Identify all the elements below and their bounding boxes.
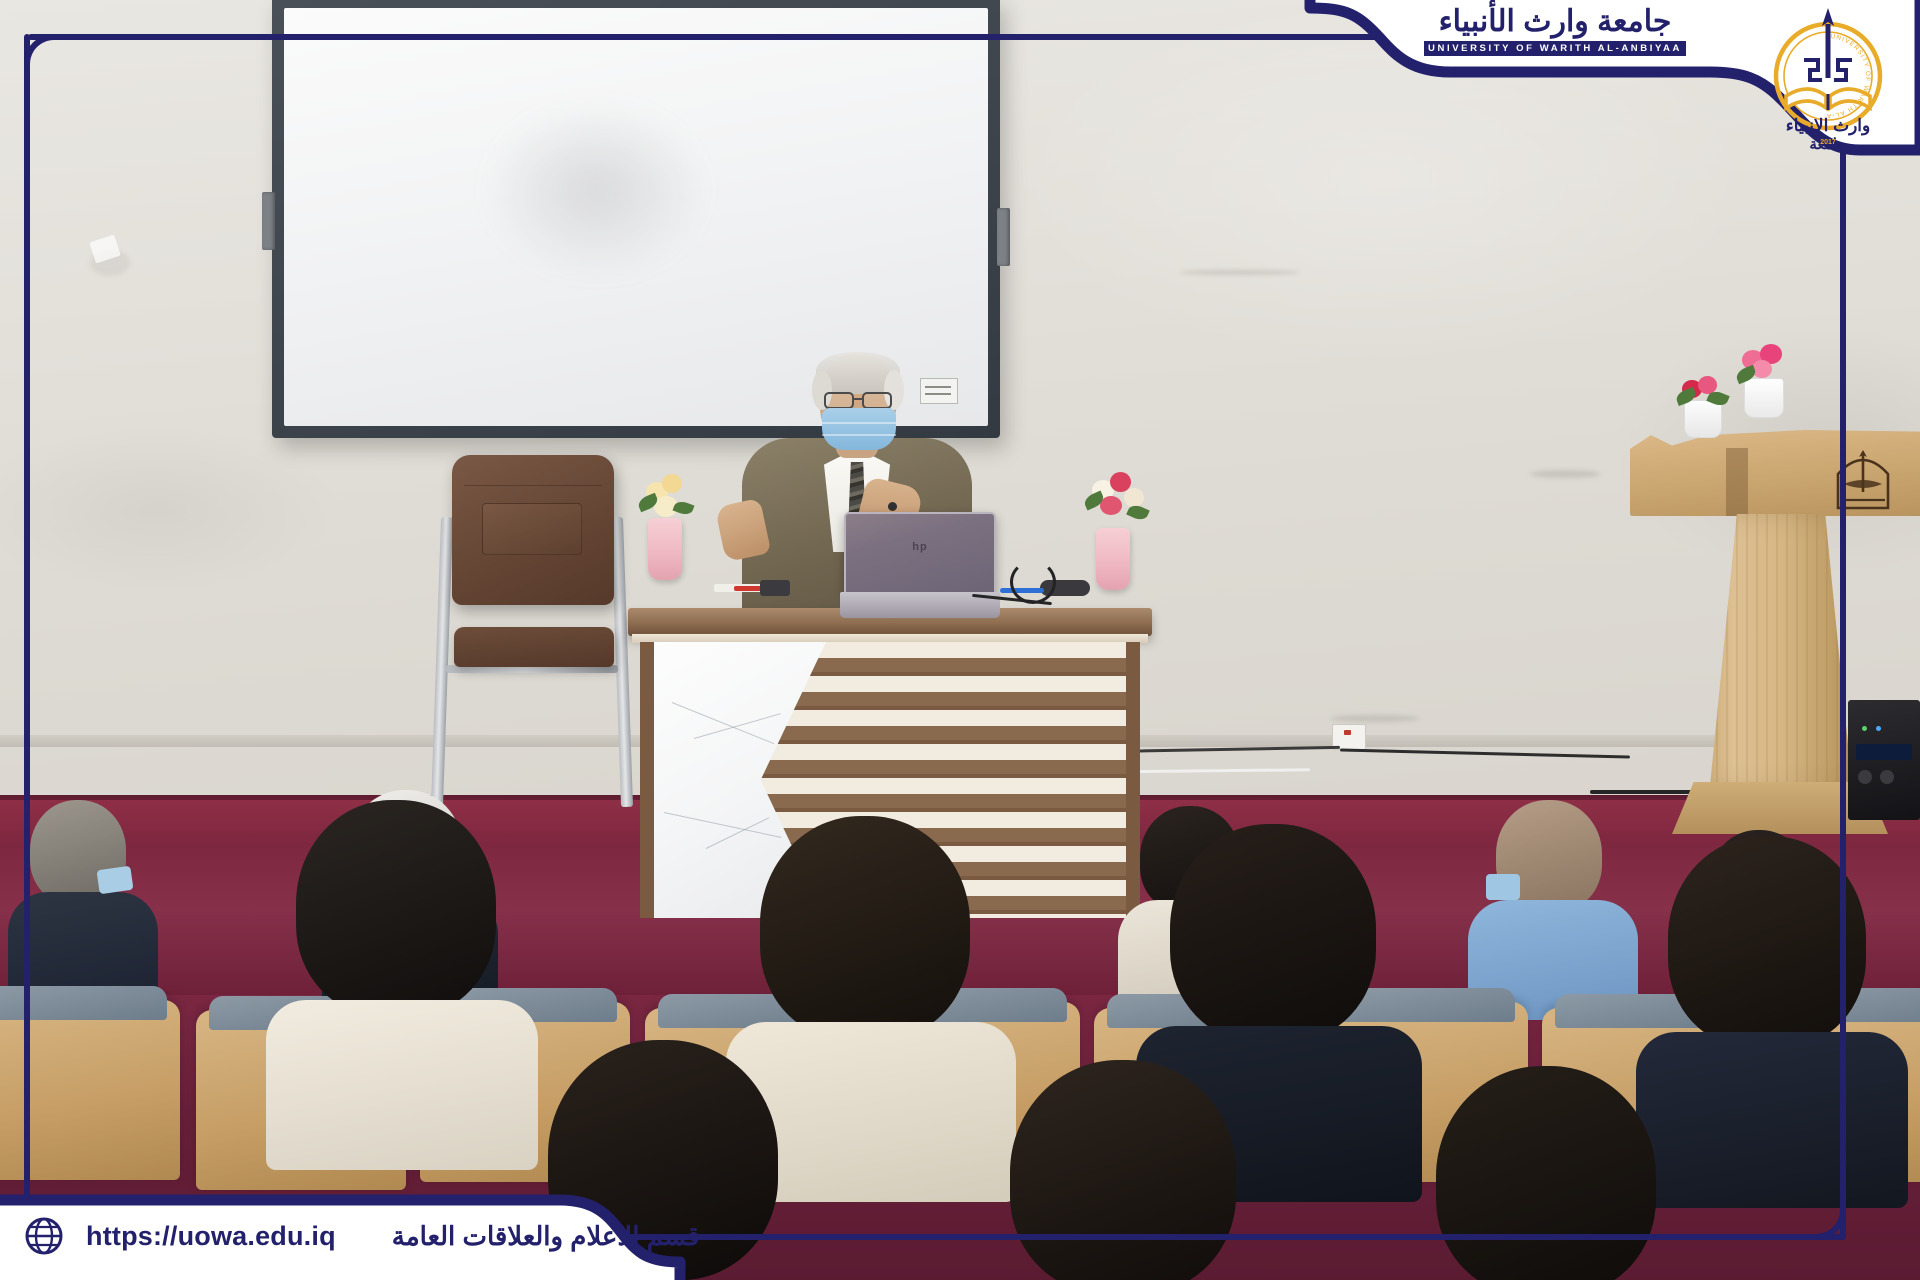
emblem-year: 2017 bbox=[1820, 139, 1836, 146]
head bbox=[760, 816, 970, 1040]
university-emblem-icon: UNIVERSITY OF WARITH AL-ANBIYAA وارث الا… bbox=[1764, 4, 1892, 154]
footer-content: https://uowa.edu.iq قسم الاعلام والعلاقا… bbox=[24, 1216, 700, 1256]
torso bbox=[1636, 1032, 1908, 1208]
eyeglasses-bridge bbox=[854, 398, 864, 400]
whiteboard-bracket bbox=[997, 208, 1010, 266]
audience-member bbox=[1010, 1060, 1250, 1280]
flower-bloom bbox=[1100, 496, 1122, 515]
desk-device bbox=[760, 580, 790, 596]
ring bbox=[888, 502, 897, 511]
flower-vase-left bbox=[648, 508, 688, 580]
vase-body bbox=[648, 518, 682, 580]
mixer-knob bbox=[1880, 770, 1894, 784]
frame-top-line bbox=[28, 34, 1396, 40]
emblem-name-arabic: وارث الانبياء bbox=[1786, 116, 1870, 136]
flower-bloom bbox=[1124, 488, 1144, 507]
whiteboard-bracket bbox=[262, 192, 275, 250]
audio-mixer-rack bbox=[1848, 700, 1920, 820]
flower-vase-right bbox=[1096, 510, 1136, 590]
white-pot bbox=[1684, 400, 1722, 438]
vase-body bbox=[1096, 528, 1130, 590]
eyeglasses bbox=[862, 392, 892, 409]
face-mask bbox=[1486, 874, 1520, 900]
mixer-led bbox=[1876, 726, 1881, 731]
university-name-arabic: جامعة وارث الأنبياء bbox=[1390, 6, 1720, 38]
frame-right-line bbox=[1840, 92, 1846, 1240]
website-url[interactable]: https://uowa.edu.iq bbox=[86, 1221, 336, 1252]
whiteboard-smudge bbox=[481, 100, 711, 280]
head bbox=[1010, 1060, 1236, 1280]
department-label-arabic: قسم الاعلام والعلاقات العامة bbox=[392, 1221, 700, 1252]
poster-canvas: hp bbox=[0, 0, 1920, 1280]
head bbox=[1170, 824, 1376, 1042]
face-mask-pleat bbox=[822, 434, 896, 436]
audience-member bbox=[1668, 836, 1884, 1136]
chair-seat bbox=[454, 627, 614, 667]
mixer-display bbox=[1856, 744, 1912, 760]
lectern-band bbox=[1726, 448, 1748, 516]
laptop-brand-logo: hp bbox=[912, 541, 927, 553]
head bbox=[1668, 836, 1866, 1048]
face-mask bbox=[822, 408, 896, 450]
wall-scuff bbox=[1330, 715, 1420, 722]
torso bbox=[266, 1000, 538, 1170]
flower-bloom bbox=[1752, 360, 1772, 378]
audience-member bbox=[14, 800, 144, 1000]
university-wordmark: جامعة وارث الأنبياء UNIVERSITY OF WARITH… bbox=[1390, 6, 1720, 56]
white-pot bbox=[1744, 378, 1784, 418]
wall-scuff bbox=[1180, 270, 1300, 275]
face-mask bbox=[96, 866, 133, 894]
head bbox=[1436, 1066, 1656, 1280]
audience-member bbox=[296, 800, 516, 1100]
brown-leather-chair bbox=[430, 455, 630, 805]
face-mask-pleat bbox=[822, 422, 896, 424]
wall-scuff bbox=[1530, 470, 1600, 478]
laptop-lid: hp bbox=[844, 512, 996, 594]
mixer-led bbox=[1862, 726, 1867, 731]
eyeglasses bbox=[824, 392, 854, 409]
audience-member bbox=[1436, 1066, 1672, 1280]
event-photograph: hp bbox=[0, 0, 1920, 1280]
flower-bloom bbox=[662, 474, 682, 493]
lectern-top bbox=[1630, 430, 1920, 516]
flower-vase-podium-a bbox=[1680, 380, 1726, 438]
chair-leg bbox=[431, 517, 453, 807]
frame-corner-top-left bbox=[24, 34, 76, 86]
audience-member bbox=[1480, 800, 1620, 1000]
mixer-knob bbox=[1858, 770, 1872, 784]
frame-left-line bbox=[24, 34, 30, 1240]
globe-icon bbox=[24, 1216, 64, 1256]
desk-cable-coil bbox=[1010, 560, 1056, 604]
desk-marker bbox=[734, 586, 762, 591]
chair-leg bbox=[611, 517, 633, 807]
university-name-english: UNIVERSITY OF WARITH AL-ANBIYAA bbox=[1424, 41, 1686, 56]
head bbox=[296, 800, 496, 1016]
chair-backrest bbox=[452, 455, 614, 605]
presenter-laptop: hp bbox=[840, 512, 1000, 622]
flower-vase-podium-b bbox=[1738, 352, 1790, 418]
chair-seam bbox=[464, 485, 602, 486]
chair-back-panel bbox=[482, 503, 582, 555]
